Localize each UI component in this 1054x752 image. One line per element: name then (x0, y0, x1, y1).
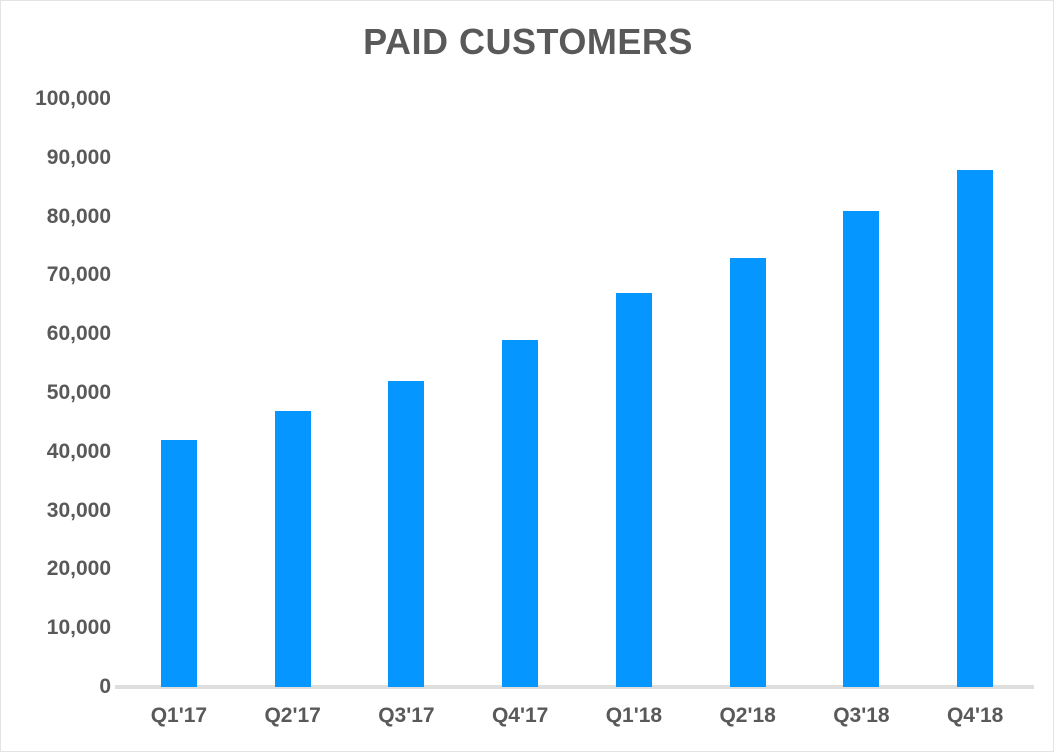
y-axis-tick-label: 90,000 (1, 146, 111, 170)
bar (730, 258, 766, 687)
x-axis-tick-label: Q1'17 (122, 701, 236, 731)
x-axis-tick-label: Q2'17 (236, 701, 350, 731)
bar (388, 381, 424, 687)
x-axis-tick-label: Q3'17 (350, 701, 464, 731)
bar-chart: PAID CUSTOMERS 010,00020,00030,00040,000… (0, 0, 1054, 752)
x-axis-tick-label: Q2'18 (691, 701, 805, 731)
bar (161, 440, 197, 687)
y-axis-tick-label: 30,000 (1, 499, 111, 523)
x-axis-tick-label: Q4'18 (918, 701, 1032, 731)
y-axis-tick-label: 80,000 (1, 205, 111, 229)
bar (616, 293, 652, 687)
y-axis-tick-label: 20,000 (1, 557, 111, 581)
bar (843, 211, 879, 687)
bar (275, 411, 311, 687)
x-axis-tick-label: Q4'17 (463, 701, 577, 731)
bar (502, 340, 538, 687)
y-axis-tick-label: 50,000 (1, 381, 111, 405)
x-axis-tick-label: Q3'18 (805, 701, 919, 731)
y-axis-tick-label: 0 (1, 675, 111, 699)
y-axis-tick-label: 60,000 (1, 322, 111, 346)
y-axis-tick-label: 70,000 (1, 263, 111, 287)
plot-area (125, 99, 1035, 687)
y-axis-tick-label: 40,000 (1, 440, 111, 464)
chart-title: PAID CUSTOMERS (1, 19, 1054, 65)
y-axis-tick-label: 10,000 (1, 616, 111, 640)
x-axis: Q1'17Q2'17Q3'17Q4'17Q1'18Q2'18Q3'18Q4'18 (125, 701, 1035, 741)
y-axis-tick-label: 100,000 (1, 87, 111, 111)
y-axis: 010,00020,00030,00040,00050,00060,00070,… (1, 99, 111, 687)
x-axis-tick-label: Q1'18 (577, 701, 691, 731)
bar (957, 170, 993, 687)
